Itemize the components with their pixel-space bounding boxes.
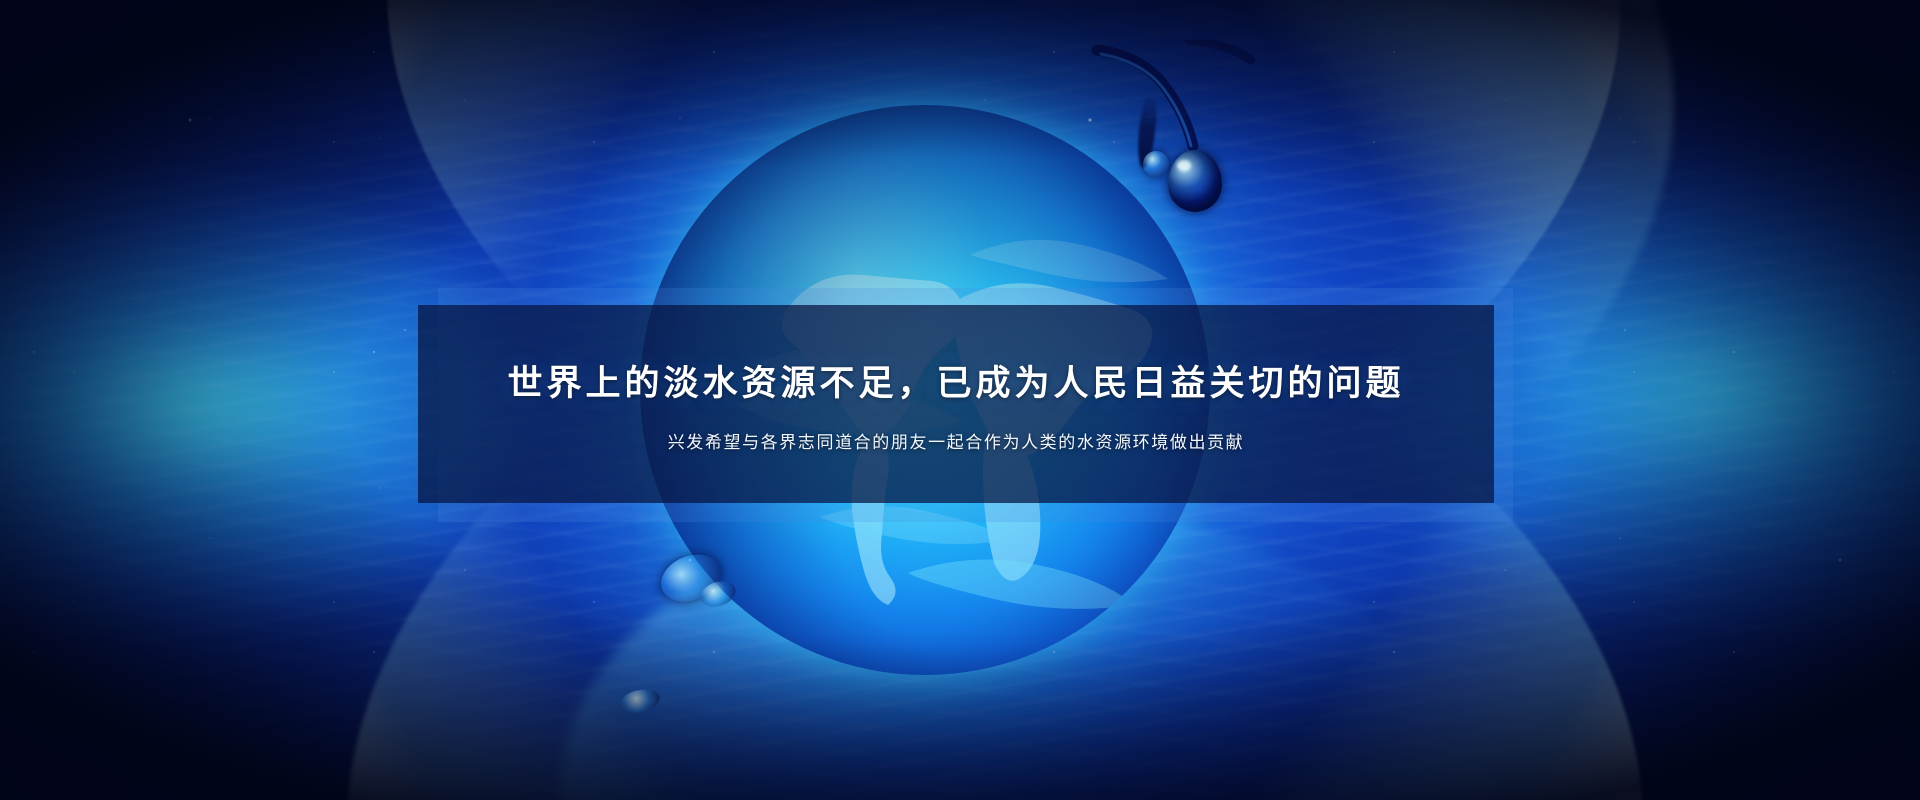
- banner-subline: 兴发希望与各界志同道合的朋友一起合作为人类的水资源环境做出贡献: [668, 428, 1245, 453]
- banner-copy: 世界上的淡水资源不足，已成为人民日益关切的问题 兴发希望与各界志同道合的朋友一起…: [418, 305, 1494, 503]
- banner-headline: 世界上的淡水资源不足，已成为人民日益关切的问题: [507, 355, 1404, 406]
- hero-banner: 世界上的淡水资源不足，已成为人民日益关切的问题 兴发希望与各界志同道合的朋友一起…: [0, 0, 1920, 800]
